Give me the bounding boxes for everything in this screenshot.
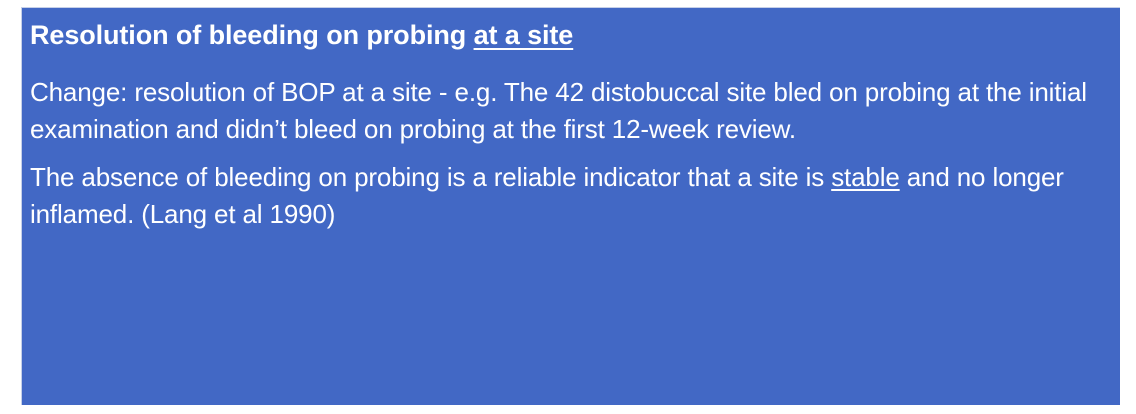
title-underlined-text: at a site: [474, 20, 574, 50]
paragraph-1-segment-1: Change: resolution of BOP at a site - e.…: [30, 77, 1087, 144]
slide-body: Change: resolution of BOP at a site - e.…: [30, 74, 1110, 233]
title-plain-text: Resolution of bleeding on probing: [30, 20, 474, 50]
content-text-box: Resolution of bleeding on probing at a s…: [21, 7, 1120, 405]
paragraph-change-definition: Change: resolution of BOP at a site - e.…: [30, 74, 1110, 148]
slide-title: Resolution of bleeding on probing at a s…: [30, 17, 1110, 53]
paragraph-2-underlined-stable: stable: [831, 162, 899, 192]
paragraph-absence-of-bop: The absence of bleeding on probing is a …: [30, 159, 1110, 233]
paragraph-2-segment-1: The absence of bleeding on probing is a …: [30, 162, 831, 192]
slide-canvas: Resolution of bleeding on probing at a s…: [0, 0, 1136, 414]
